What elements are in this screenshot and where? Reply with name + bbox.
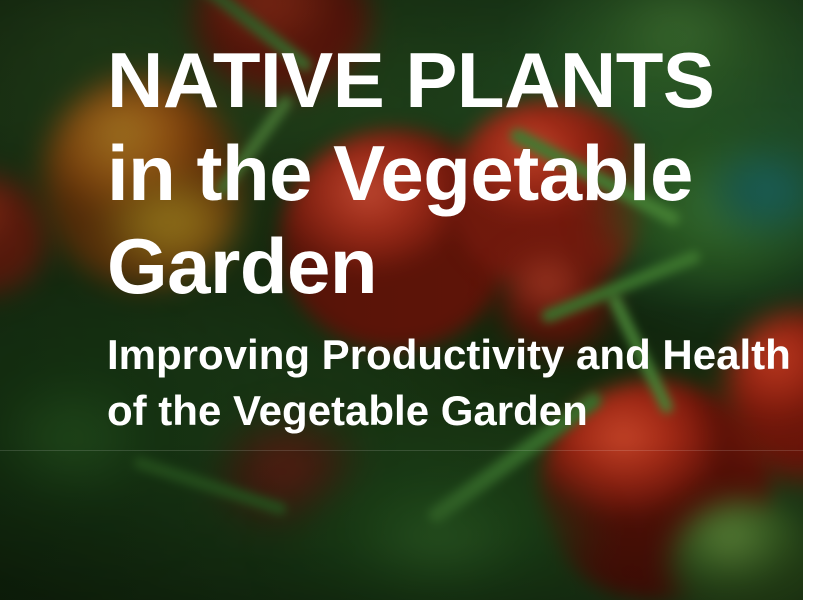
right-white-margin	[803, 0, 840, 600]
slide-title: NATIVE PLANTS in the Vegetable Garden	[107, 34, 797, 313]
title-slide: NATIVE PLANTS in the Vegetable Garden Im…	[0, 0, 840, 600]
slide-subtitle: Improving Productivity and Health of the…	[107, 313, 797, 439]
photo-seam-line	[0, 450, 803, 451]
slide-text-block: NATIVE PLANTS in the Vegetable Garden Im…	[107, 34, 797, 439]
